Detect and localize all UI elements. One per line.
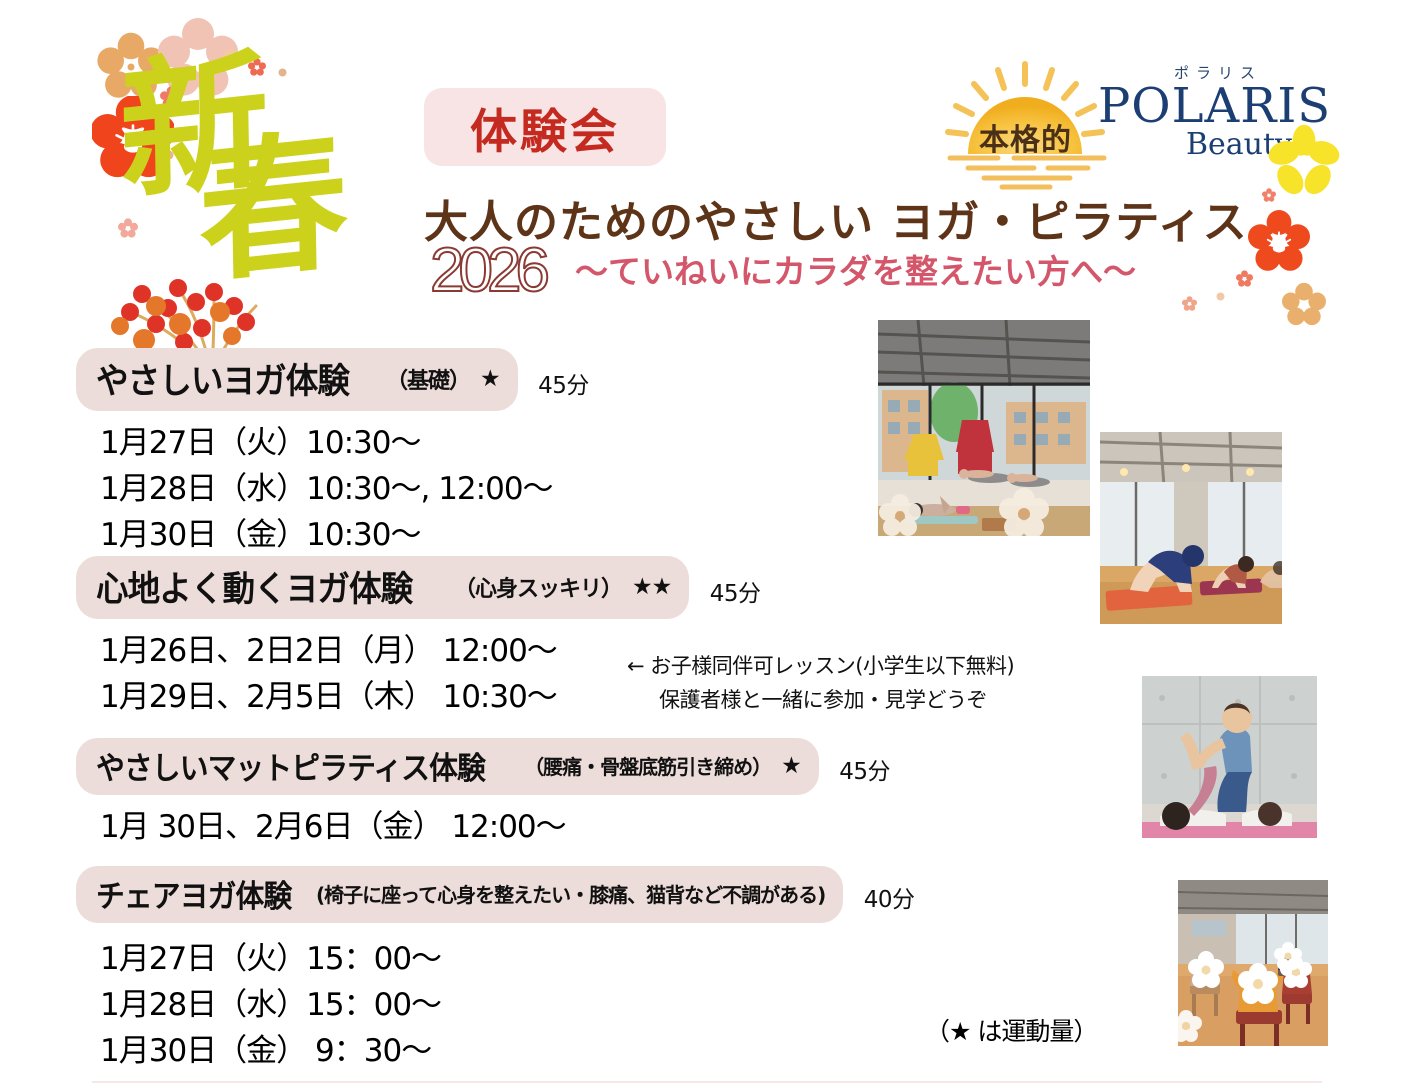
kids-allowed-note: ← お子様同伴可レッスン(小学生以下無料) 保護者様と一緒に参加・見学どうぞ <box>627 650 1014 717</box>
course-date-line: 1月28日（水）10:30〜, 12:00〜 <box>76 467 589 513</box>
sunrise-graphic: 本格的 <box>938 58 1113 193</box>
course-note: (椅子に座って心身を整えたい・膝痛、猫背など不調がある) <box>316 879 825 908</box>
dot-decoration-icon <box>1216 292 1225 301</box>
course-date-line: 1月30日（金）10:30〜 <box>76 513 589 559</box>
kids-note-line1: お子様同伴可レッスン(小学生以下無料) <box>650 654 1014 678</box>
course-date-list: 1月27日（火）15：00〜 1月28日（水）15：00〜 1月30日（金） 9… <box>76 937 915 1075</box>
course-date-line: 1月30日（金） 9：30〜 <box>76 1029 915 1075</box>
bottom-divider <box>92 1081 1322 1083</box>
course-header-pill: やさしいマットピラティス体験 （腰痛・骨盤底筋引き締め） ★ <box>76 738 819 795</box>
course-header-pill: チェアヨガ体験 (椅子に座って心身を整えたい・膝痛、猫背など不調がある) <box>76 866 843 923</box>
course-section-chair-yoga: チェアヨガ体験 (椅子に座って心身を整えたい・膝痛、猫背など不調がある) 40分… <box>76 866 915 1075</box>
year-label: 2026 <box>430 240 544 302</box>
course-intensity-stars: ★ <box>781 752 801 779</box>
course-intensity-stars: ★ <box>480 365 500 392</box>
course-header-pill: やさしいヨガ体験 （基礎） ★ <box>76 348 518 411</box>
page-title: 大人のためのやさしい ヨガ・ピラティス <box>424 186 1248 250</box>
course-duration: 45分 <box>839 759 890 785</box>
course-date-line: 1月27日（火）15：00〜 <box>76 937 915 983</box>
course-date-list: 1月27日（火）10:30〜 1月28日（水）10:30〜, 12:00〜 1月… <box>76 421 589 559</box>
course-title: 心地よく動くヨガ体験 <box>96 561 412 612</box>
course-note: （腰痛・骨盤底筋引き締め） <box>524 751 771 780</box>
intensity-footnote: （★ は運動量） <box>925 1012 1097 1048</box>
kids-note-line2: 保護者様と一緒に参加・見学どうぞ <box>627 684 1014 718</box>
course-date-line: 1月27日（火）10:30〜 <box>76 421 589 467</box>
course-title: やさしいマットピラティス体験 <box>96 743 485 788</box>
course-date-list: 1月 30日、2月6日（金） 12:00〜 <box>76 805 890 851</box>
polaris-logo: ポラリス POLARIS Beauty <box>1098 62 1328 160</box>
yoga-downward-dog-photo <box>1100 432 1282 624</box>
plum-blossom-icon <box>1248 210 1310 272</box>
course-duration: 45分 <box>538 373 589 399</box>
course-duration: 45分 <box>710 581 761 607</box>
plum-blossom-icon <box>1282 282 1326 326</box>
taikenkai-badge: 体験会 <box>424 88 666 166</box>
course-section-yasashii-yoga: やさしいヨガ体験 （基礎） ★ 45分 1月27日（火）10:30〜 1月28日… <box>76 348 589 559</box>
arrow-left-icon: ← <box>627 654 644 678</box>
page-subtitle: 〜ていねいにカラダを整えたい方へ〜 <box>575 245 1136 293</box>
calligraphy-char-shun: 春 <box>198 130 433 278</box>
plum-blossom-small-icon <box>1182 296 1197 311</box>
course-date-line: 1月28日（水）15：00〜 <box>76 983 915 1029</box>
course-note: （基礎） <box>386 363 470 395</box>
plum-blossom-small-icon <box>1236 270 1253 287</box>
chair-yoga-class-photo <box>1178 880 1328 1046</box>
course-intensity-stars: ★★ <box>632 573 671 600</box>
yellow-flower-icon <box>1266 124 1342 205</box>
course-duration: 40分 <box>864 887 915 913</box>
poster-canvas: 新 春 <box>0 0 1415 1089</box>
course-title: チェアヨガ体験 <box>96 871 291 916</box>
studio-relaxation-photo <box>878 320 1090 536</box>
course-section-mat-pilates: やさしいマットピラティス体験 （腰痛・骨盤底筋引き締め） ★ 45分 1月 30… <box>76 738 890 851</box>
honkakuteki-label: 本格的 <box>938 58 1113 193</box>
course-title: やさしいヨガ体験 <box>96 353 349 404</box>
course-note: （心身スッキリ） <box>454 571 622 603</box>
instructor-assist-photo <box>1142 676 1317 838</box>
course-date-line: 1月 30日、2月6日（金） 12:00〜 <box>76 805 890 851</box>
logo-name: POLARIS <box>1098 83 1328 130</box>
course-header-pill: 心地よく動くヨガ体験 （心身スッキリ） ★★ <box>76 556 689 619</box>
taikenkai-badge-label: 体験会 <box>470 93 620 162</box>
